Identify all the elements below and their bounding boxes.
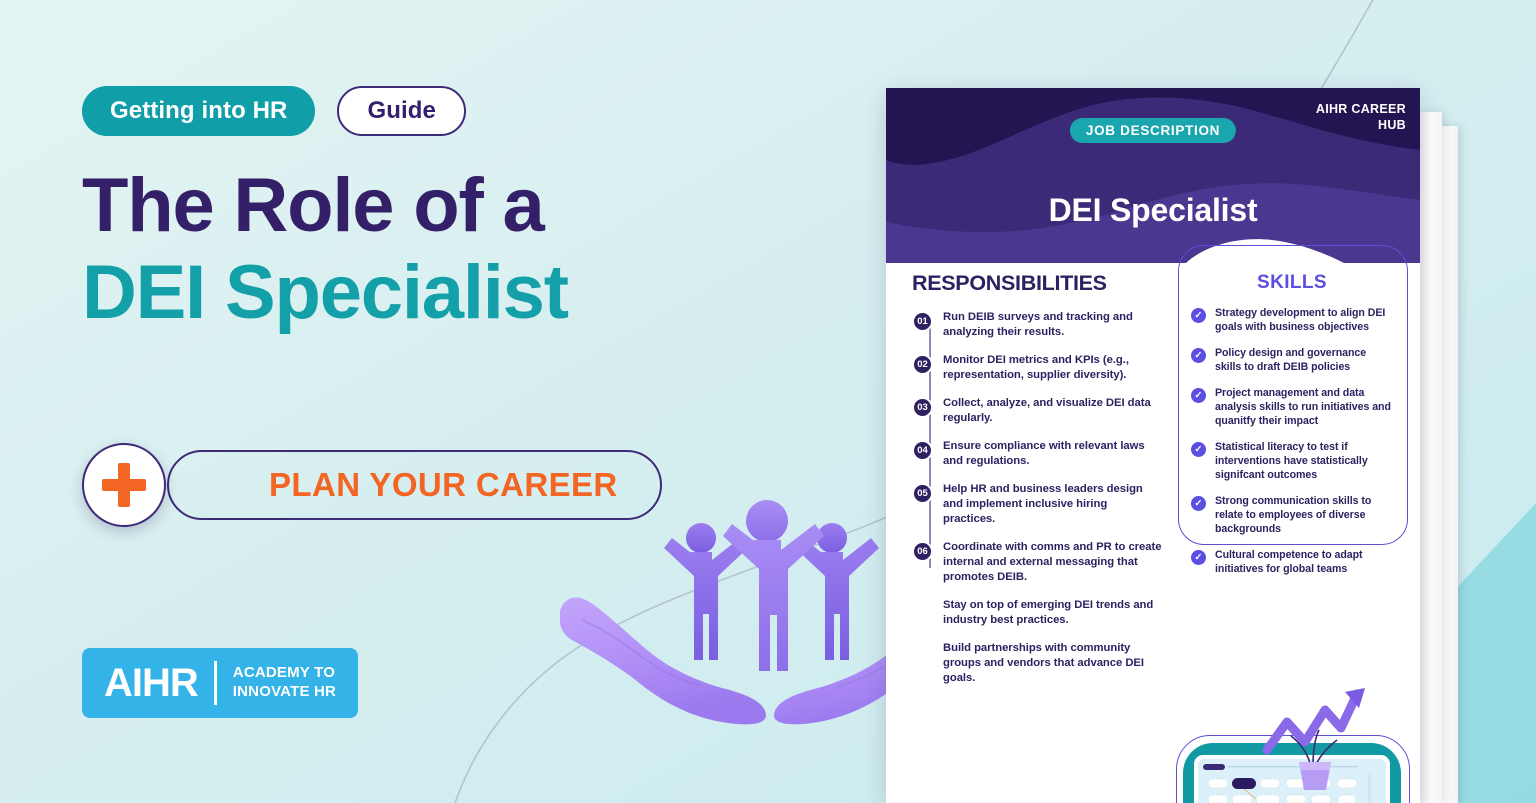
badge-guide[interactable]: Guide: [337, 86, 466, 136]
responsibility-text: Help HR and business leaders design and …: [943, 482, 1162, 527]
job-description-header: JOB DESCRIPTION AIHR CAREER HUB DEI Spec…: [886, 88, 1420, 263]
responsibilities-heading: RESPONSIBILITIES: [912, 271, 1162, 296]
responsibility-text: Ensure compliance with relevant laws and…: [943, 439, 1162, 469]
skill-item: ✓Strategy development to align DEI goals…: [1191, 307, 1393, 335]
hub-label-line-1: AIHR CAREER: [1316, 102, 1406, 116]
responsibilities-section: RESPONSIBILITIES 01Run DEIB surveys and …: [912, 271, 1162, 699]
responsibility-item: 02Monitor DEI metrics and KPIs (e.g., re…: [912, 353, 1162, 383]
plant-growth-arrow-illustration: [1237, 676, 1387, 796]
skill-text: Project management and data analysis ski…: [1215, 387, 1393, 429]
responsibility-text: Run DEIB surveys and tracking and analyz…: [943, 310, 1162, 340]
logo-tagline-line-2: INNOVATE HR: [233, 683, 336, 700]
skill-text: Policy design and governance skills to d…: [1215, 347, 1393, 375]
responsibility-item: 05Help HR and business leaders design an…: [912, 482, 1162, 527]
responsibility-text: Collect, analyze, and visualize DEI data…: [943, 396, 1162, 426]
skills-section: SKILLS ✓Strategy development to align DE…: [1178, 245, 1408, 545]
responsibility-item: 01Run DEIB surveys and tracking and anal…: [912, 310, 1162, 340]
badge-row: Getting into HR Guide: [82, 86, 466, 136]
skills-heading: SKILLS: [1191, 272, 1393, 294]
check-icon: ✓: [1191, 550, 1206, 565]
responsibility-number: 01: [912, 311, 933, 332]
page-title: The Role of a DEI Specialist: [82, 166, 568, 332]
job-title: DEI Specialist: [886, 192, 1420, 229]
job-description-card: JOB DESCRIPTION AIHR CAREER HUB DEI Spec…: [886, 88, 1420, 803]
plus-icon[interactable]: [82, 443, 166, 527]
responsibility-item: Stay on top of emerging DEI trends and i…: [912, 598, 1162, 628]
skills-list: ✓Strategy development to align DEI goals…: [1191, 307, 1393, 577]
responsibility-text: Build partnerships with community groups…: [943, 641, 1162, 686]
responsibility-number: 04: [912, 440, 933, 461]
responsibility-number: 06: [912, 541, 933, 562]
skill-text: Statistical literacy to test if interven…: [1215, 441, 1393, 483]
skill-item: ✓Policy design and governance skills to …: [1191, 347, 1393, 375]
page-title-line-1: The Role of a: [82, 166, 568, 245]
responsibility-item: 06Coordinate with comms and PR to create…: [912, 540, 1162, 585]
logo-divider: [214, 661, 217, 705]
responsibility-item: Build partnerships with community groups…: [912, 641, 1162, 686]
logo-tagline-line-1: ACADEMY TO: [233, 664, 335, 681]
figure-center: [723, 500, 824, 671]
skill-item: ✓Statistical literacy to test if interve…: [1191, 441, 1393, 483]
skill-item: ✓Strong communication skills to relate t…: [1191, 495, 1393, 537]
skill-text: Strong communication skills to relate to…: [1215, 495, 1393, 537]
skill-text: Strategy development to align DEI goals …: [1215, 307, 1393, 335]
check-icon: ✓: [1191, 496, 1206, 511]
aihr-logo[interactable]: AIHR ACADEMY TO INNOVATE HR: [82, 648, 358, 718]
check-icon: ✓: [1191, 348, 1206, 363]
job-description-body: RESPONSIBILITIES 01Run DEIB surveys and …: [886, 263, 1420, 803]
responsibility-number: 05: [912, 483, 933, 504]
job-description-badge: JOB DESCRIPTION: [1070, 118, 1236, 143]
responsibility-text: Monitor DEI metrics and KPIs (e.g., repr…: [943, 353, 1162, 383]
check-icon: ✓: [1191, 388, 1206, 403]
hub-label-line-2: HUB: [1378, 118, 1406, 132]
skill-text: Cultural competence to adapt initiatives…: [1215, 549, 1393, 577]
responsibility-text: Coordinate with comms and PR to create i…: [943, 540, 1162, 585]
responsibility-item: 03Collect, analyze, and visualize DEI da…: [912, 396, 1162, 426]
plus-icon-vertical-bar: [118, 463, 130, 507]
check-icon: ✓: [1191, 308, 1206, 323]
aihr-career-hub-label: AIHR CAREER HUB: [1316, 102, 1406, 133]
responsibility-number: 03: [912, 397, 933, 418]
logo-wordmark: AIHR: [104, 661, 198, 706]
check-icon: ✓: [1191, 442, 1206, 457]
left-hand: [560, 597, 766, 724]
responsibility-text: Stay on top of emerging DEI trends and i…: [943, 598, 1162, 628]
skill-item: ✓Project management and data analysis sk…: [1191, 387, 1393, 429]
responsibility-item: 04Ensure compliance with relevant laws a…: [912, 439, 1162, 469]
banner-canvas: Getting into HR Guide The Role of a DEI …: [0, 0, 1536, 803]
responsibilities-list: 01Run DEIB surveys and tracking and anal…: [912, 310, 1162, 686]
career-map-promo[interactable]: PLAN YOUR HR CAREER: [1176, 735, 1410, 803]
badge-getting-into-hr[interactable]: Getting into HR: [82, 86, 315, 136]
logo-tagline: ACADEMY TO INNOVATE HR: [233, 664, 336, 702]
page-title-line-2: DEI Specialist: [82, 253, 568, 332]
skill-item: ✓Cultural competence to adapt initiative…: [1191, 549, 1393, 577]
paper-stack-mid: [1420, 112, 1442, 803]
responsibility-number: 02: [912, 354, 933, 375]
